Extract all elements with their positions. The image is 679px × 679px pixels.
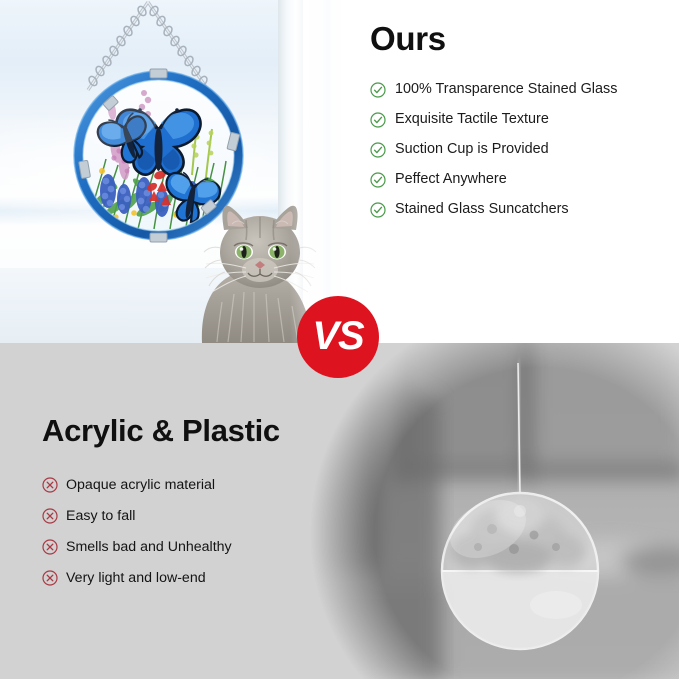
x-circle-icon [42,508,58,524]
competitor-drawback-item: Opaque acrylic material [42,470,342,500]
competitor-drawback-item: Easy to fall [42,501,342,531]
competitor-text-block: Acrylic & Plastic Opaque acrylic materia… [42,415,342,594]
check-circle-icon [370,112,386,128]
ours-feature-label: Suction Cup is Provided [395,142,549,156]
competitor-heading: Acrylic & Plastic [42,415,342,446]
ours-product-photo [0,0,360,343]
ours-feature-item: 100% Transparence Stained Glass [370,75,670,104]
ours-feature-label: Stained Glass Suncatchers [395,202,569,216]
check-circle-icon [370,142,386,158]
ours-feature-item: Peffect Anywhere [370,165,670,194]
competitor-section: Acrylic & Plastic Opaque acrylic materia… [0,343,679,679]
comparison-infographic: Ours 100% Transparence Stained Glass Exq… [0,0,679,679]
x-circle-icon [42,539,58,555]
photo-fade-overlay [290,0,360,343]
vs-label: VS [312,316,363,356]
ours-feature-item: Suction Cup is Provided [370,135,670,164]
competitor-drawback-item: Smells bad and Unhealthy [42,532,342,562]
ours-heading: Ours [370,22,670,55]
ours-feature-label: 100% Transparence Stained Glass [395,82,617,96]
ours-section: Ours 100% Transparence Stained Glass Exq… [0,0,679,343]
vs-badge: VS [297,296,379,378]
ours-feature-list: 100% Transparence Stained Glass Exquisit… [370,75,670,224]
competitor-drawback-label: Smells bad and Unhealthy [66,540,232,554]
check-circle-icon [370,82,386,98]
ours-text-block: Ours 100% Transparence Stained Glass Exq… [370,22,670,225]
check-circle-icon [370,172,386,188]
ours-feature-item: Stained Glass Suncatchers [370,195,670,224]
competitor-drawback-item: Very light and low-end [42,563,342,593]
x-circle-icon [42,477,58,493]
check-circle-icon [370,202,386,218]
competitor-drawback-label: Easy to fall [66,509,135,523]
x-circle-icon [42,570,58,586]
competitor-drawback-label: Very light and low-end [66,571,206,585]
ours-feature-label: Peffect Anywhere [395,172,507,186]
competitor-drawback-label: Opaque acrylic material [66,478,215,492]
ours-feature-label: Exquisite Tactile Texture [395,112,549,126]
ours-feature-item: Exquisite Tactile Texture [370,105,670,134]
